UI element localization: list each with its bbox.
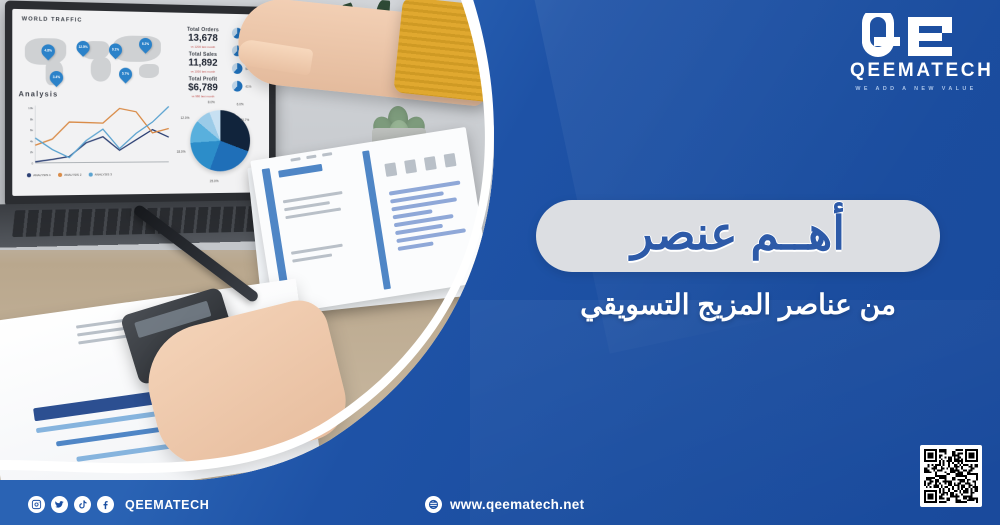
twitter-icon[interactable] bbox=[51, 496, 68, 513]
kpi-list: Total Orders 13,678 vs 1200 last month T… bbox=[175, 27, 231, 102]
brand-tagline: WE ADD A NEW VALUE bbox=[850, 86, 982, 92]
analysis-line-svg: 02k4k6k8k10k bbox=[21, 103, 171, 169]
laptop-screen-bezel: WORLD TRAFFIC 4.8% 12.5% 9.1% 6.2% bbox=[5, 0, 276, 206]
kpi-sub: vs 1200 last month bbox=[175, 44, 231, 49]
map-pin: 5.7% bbox=[116, 65, 134, 83]
pie-label: 25.0% bbox=[210, 179, 219, 183]
mini-metric: 41% bbox=[232, 81, 269, 92]
page-title: أهــم عنصر bbox=[631, 210, 845, 262]
kpi-sub: vs 1050 last month bbox=[175, 69, 231, 74]
map-pin: 9.1% bbox=[106, 41, 124, 60]
globe-icon bbox=[425, 496, 442, 513]
svg-text:6k: 6k bbox=[30, 128, 34, 132]
kpi-value: 11,892 bbox=[175, 57, 231, 69]
kpi-value: 13,678 bbox=[175, 32, 231, 44]
pie-label: 12.0% bbox=[181, 116, 190, 120]
website-link[interactable]: www.qeematech.net bbox=[425, 496, 584, 513]
legend-item: ANALYSIS 3 bbox=[89, 172, 112, 176]
svg-text:8k: 8k bbox=[30, 117, 34, 121]
website-url: www.qeematech.net bbox=[450, 497, 584, 512]
page-subtitle: من عناصر المزيج التسويقي bbox=[536, 288, 940, 321]
tiktok-icon[interactable] bbox=[74, 496, 91, 513]
social-handle: QEEMATECH bbox=[125, 498, 209, 512]
facebook-icon[interactable] bbox=[97, 496, 114, 513]
svg-text:10k: 10k bbox=[28, 106, 34, 110]
dashboard-screen: WORLD TRAFFIC 4.8% 12.5% 9.1% 6.2% bbox=[12, 9, 269, 196]
world-map: 4.8% 12.5% 9.1% 6.2% 3.4% 5.7% bbox=[19, 25, 173, 88]
yellow-sweater-sleeve bbox=[393, 0, 510, 103]
headline-pill: أهــم عنصر bbox=[536, 200, 940, 272]
qg-monogram-icon bbox=[850, 14, 982, 58]
map-pin: 3.4% bbox=[47, 68, 66, 87]
marketing-banner: WORLD TRAFFIC 4.8% 12.5% 9.1% 6.2% bbox=[0, 0, 1000, 525]
map-pin: 12.5% bbox=[74, 38, 93, 57]
map-pin: 4.8% bbox=[39, 42, 58, 61]
social-bar: QEEMATECH bbox=[28, 496, 209, 513]
svg-text:0: 0 bbox=[31, 161, 33, 165]
pie-label: 6.0% bbox=[237, 102, 244, 106]
pie-label: 30.7% bbox=[241, 118, 250, 122]
instagram-icon[interactable] bbox=[28, 496, 45, 513]
legend-item: ANALYSIS 2 bbox=[58, 173, 82, 177]
mini-pie-icon bbox=[232, 63, 243, 74]
analysis-chart: Analysis 02k4k6k8k10k ANALYSIS 1 bbox=[19, 91, 173, 190]
mini-pie-icon bbox=[232, 81, 243, 92]
pie-label: 8.0% bbox=[208, 100, 215, 104]
svg-text:4k: 4k bbox=[30, 139, 34, 143]
pie-label: 18.0% bbox=[177, 150, 186, 154]
svg-text:2k: 2k bbox=[30, 150, 34, 154]
legend-item: ANALYSIS 1 bbox=[27, 173, 51, 177]
analysis-title: Analysis bbox=[19, 91, 173, 99]
laptop-keyboard bbox=[0, 200, 291, 248]
kpi-value: $6,789 bbox=[175, 82, 231, 93]
world-traffic-title: WORLD TRAFFIC bbox=[22, 16, 83, 23]
brand-name: QEEMATECH bbox=[850, 60, 982, 82]
hero-photo-image: WORLD TRAFFIC 4.8% 12.5% 9.1% 6.2% bbox=[0, 0, 560, 480]
brand-logo: QEEMATECH WE ADD A NEW VALUE bbox=[850, 14, 982, 92]
analysis-legend: ANALYSIS 1 ANALYSIS 2 ANALYSIS 3 bbox=[27, 172, 112, 177]
qr-code[interactable] bbox=[920, 445, 982, 507]
hero-photo: WORLD TRAFFIC 4.8% 12.5% 9.1% 6.2% bbox=[0, 0, 560, 480]
